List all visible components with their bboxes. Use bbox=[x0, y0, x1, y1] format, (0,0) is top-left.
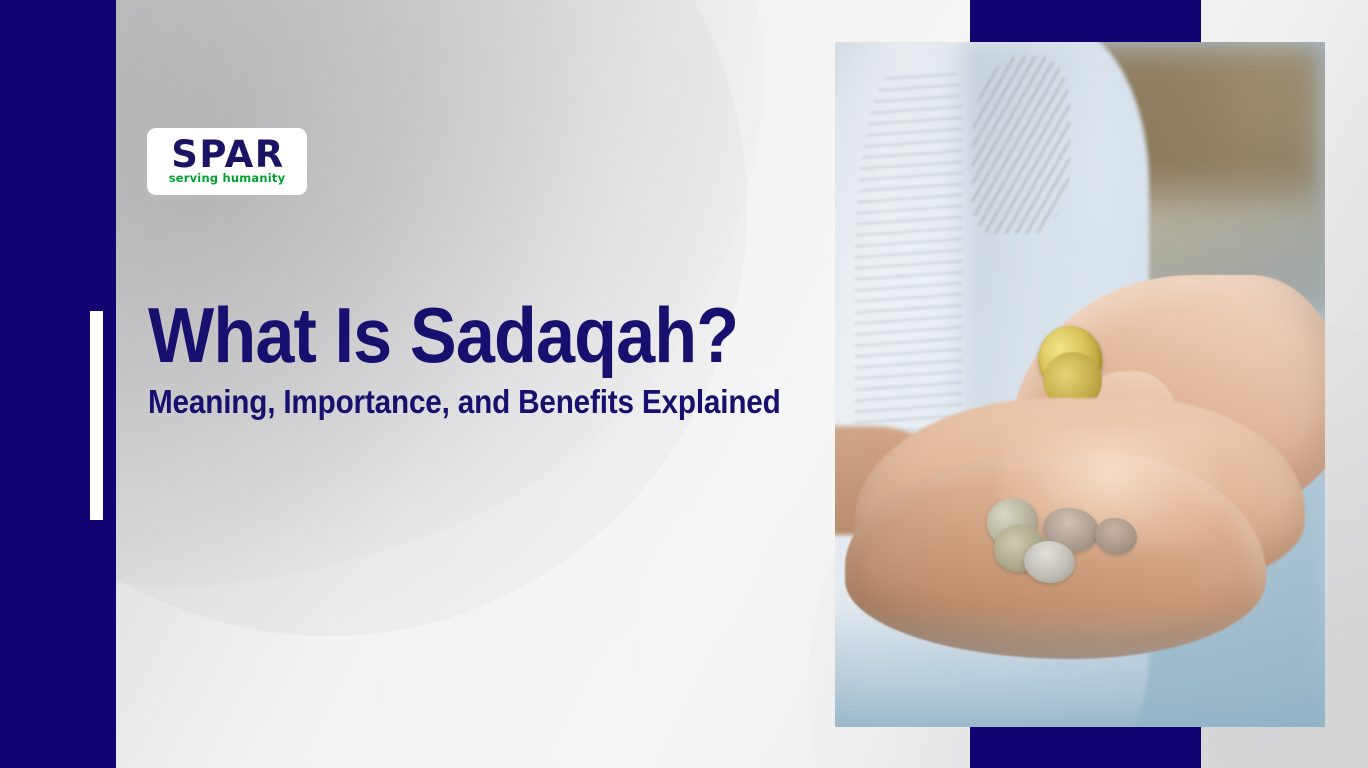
spar-logo[interactable]: SPAR serving humanity bbox=[147, 128, 307, 195]
photo-bottom-fade bbox=[835, 604, 1325, 727]
navy-block-bottom bbox=[970, 724, 1201, 768]
logo-tagline: serving humanity bbox=[169, 173, 286, 185]
page-subtitle: Meaning, Importance, and Benefits Explai… bbox=[148, 384, 778, 420]
white-accent-bar bbox=[90, 311, 103, 520]
photo-composition bbox=[835, 42, 1325, 727]
hero-photo bbox=[835, 42, 1325, 727]
photo-garment-embroidery-shoulder bbox=[972, 56, 1070, 234]
page-title: What Is Sadaqah? bbox=[148, 296, 778, 376]
logo-wordmark: SPAR bbox=[169, 138, 285, 172]
banner-canvas: SPAR serving humanity What Is Sadaqah? M… bbox=[0, 0, 1368, 768]
headline-group: What Is Sadaqah? Meaning, Importance, an… bbox=[148, 296, 848, 419]
navy-block-top bbox=[970, 0, 1201, 43]
